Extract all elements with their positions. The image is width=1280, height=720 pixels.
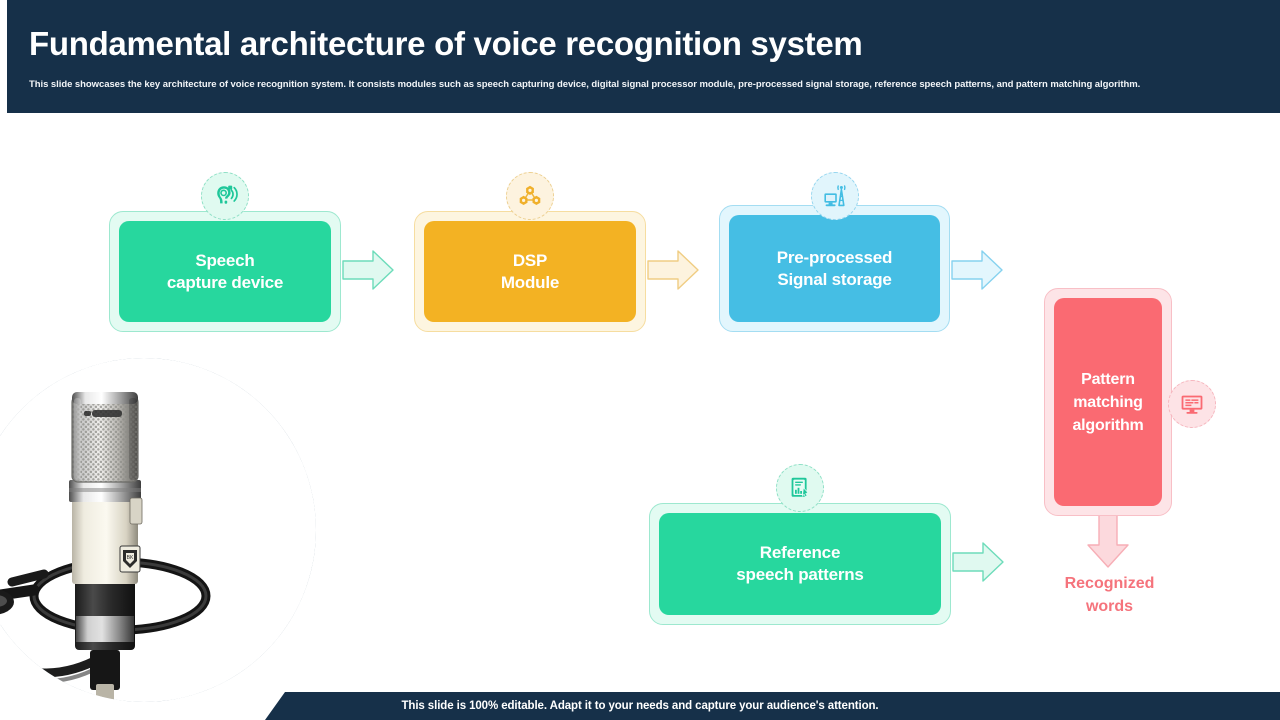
monitor-icon — [1179, 391, 1205, 417]
ear-hearing-icon — [212, 183, 238, 209]
node-reference-speech-patterns-label: Reference speech patterns — [736, 542, 863, 586]
node-dsp-module-body: DSP Module — [424, 221, 636, 322]
microphone-photo: BK — [0, 358, 316, 702]
node-reference-speech-patterns-body: Reference speech patterns — [659, 513, 941, 615]
node-pre-processed-signal-storage-body: Pre-processed Signal storage — [729, 215, 940, 322]
network-nodes-icon — [517, 183, 543, 209]
node-pattern-matching-algorithm[interactable]: Pattern matching algorithm — [1044, 288, 1172, 516]
report-chart-icon — [787, 475, 813, 501]
header-left-accent-bar — [0, 0, 7, 113]
node-speech-capture-device-body: Speech capture device — [119, 221, 331, 322]
node-reference-speech-patterns[interactable]: Reference speech patterns — [649, 503, 951, 625]
broadcast-tower-icon — [822, 183, 848, 209]
node-pre-processed-signal-storage[interactable]: Pre-processed Signal storage — [719, 205, 950, 332]
arrow-preprocessed-to-pattern — [950, 248, 1004, 297]
node-speech-capture-device-label: Speech capture device — [167, 250, 283, 294]
node-pattern-matching-algorithm-label: Pattern matching algorithm — [1072, 368, 1143, 437]
ear-hearing-icon-badge — [201, 172, 249, 220]
microphone-photo-container: BK — [0, 358, 320, 706]
node-pattern-matching-algorithm-body: Pattern matching algorithm — [1054, 298, 1162, 506]
arrow-pattern-to-output — [1085, 513, 1131, 574]
node-dsp-module[interactable]: DSP Module — [414, 211, 646, 332]
monitor-icon-badge — [1168, 380, 1216, 428]
svg-text:BK: BK — [127, 555, 134, 561]
report-chart-icon-badge — [776, 464, 824, 512]
node-pre-processed-signal-storage-label: Pre-processed Signal storage — [777, 247, 893, 291]
footer-note: This slide is 100% editable. Adapt it to… — [0, 700, 1280, 712]
arrow-speech-to-dsp — [341, 248, 395, 297]
node-speech-capture-device[interactable]: Speech capture device — [109, 211, 341, 332]
node-dsp-module-label: DSP Module — [501, 250, 559, 294]
broadcast-tower-icon-badge — [811, 172, 859, 220]
arrow-dsp-to-preprocessed — [646, 248, 700, 297]
arrow-reference-to-pattern — [951, 540, 1005, 589]
network-nodes-icon-badge — [506, 172, 554, 220]
recognized-words-label: Recognized words — [1032, 572, 1187, 618]
page-subtitle: This slide showcases the key architectur… — [29, 79, 1219, 90]
page-title: Fundamental architecture of voice recogn… — [29, 25, 862, 63]
